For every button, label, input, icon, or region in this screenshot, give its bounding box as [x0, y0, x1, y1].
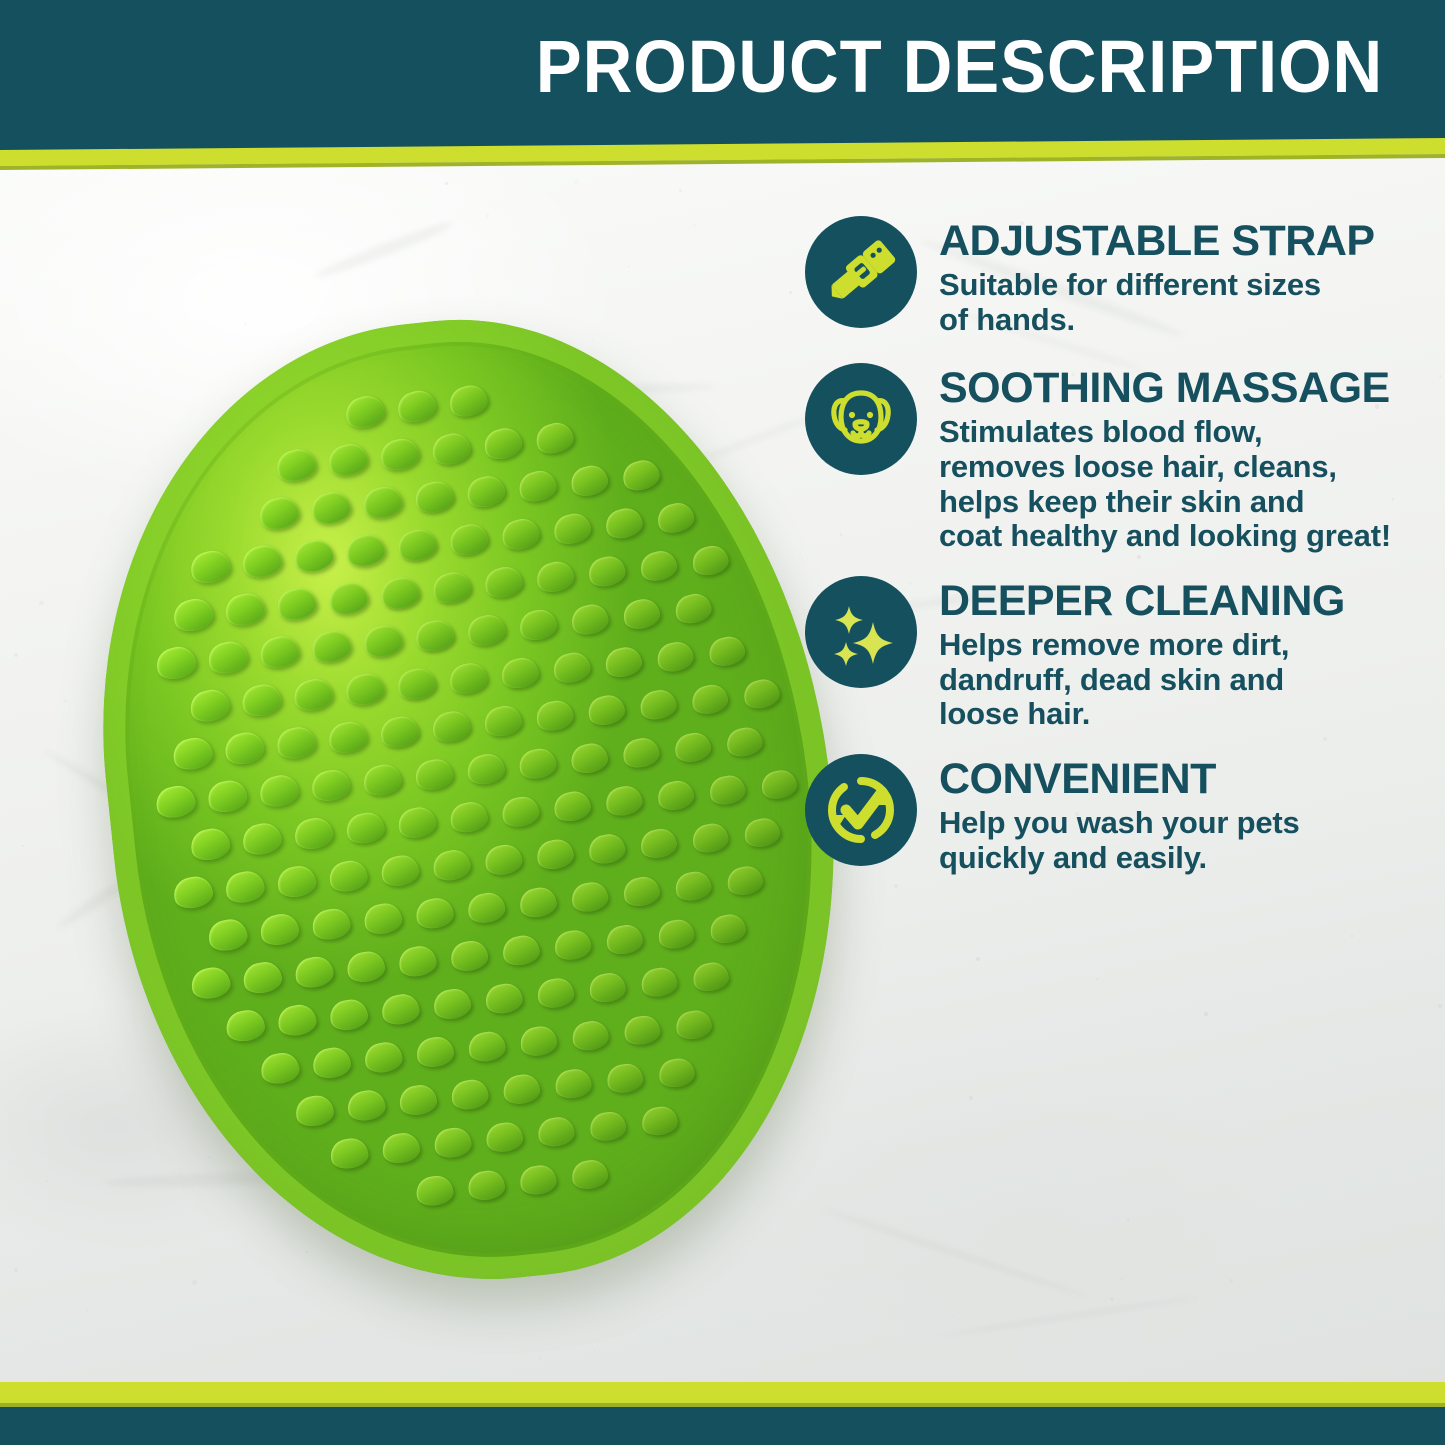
strap-buckle-icon [805, 216, 917, 328]
feature-body: Suitable for different sizes of hands. [939, 268, 1425, 337]
background-speck [486, 214, 489, 217]
feature-body-line: coat healthy and looking great! [939, 519, 1425, 554]
background-speck [1127, 1218, 1130, 1221]
feature-body-line: loose hair. [939, 697, 1425, 732]
background-speck [1351, 935, 1353, 937]
feature-heading: DEEPER CLEANING [939, 580, 1425, 624]
feature-body-line: Helps remove more dirt, [939, 628, 1425, 663]
background-speck [976, 957, 980, 961]
background-speck [1204, 1012, 1208, 1016]
feature-adjustable-strap: ADJUSTABLE STRAP Suitable for different … [805, 216, 1425, 337]
feature-body-line: Stimulates blood flow, [939, 415, 1425, 450]
sparkles-icon [805, 576, 917, 688]
background-speck [1110, 1297, 1114, 1301]
infographic-canvas: PRODUCT DESCRIPTION [0, 0, 1445, 1445]
footer-accent-stripe [0, 1382, 1445, 1404]
check-refresh-icon [805, 754, 917, 866]
background-speck [953, 1316, 955, 1318]
background-speck [789, 291, 792, 294]
feature-body-line: helps keep their skin and [939, 485, 1425, 520]
background-speck [969, 1096, 973, 1100]
feature-heading: CONVENIENT [939, 758, 1425, 802]
feature-body: Help you wash your pets quickly and easi… [939, 806, 1425, 875]
brush-body [62, 285, 878, 1315]
feature-body-line: of hands. [939, 303, 1425, 338]
feature-body-line: Help you wash your pets [939, 806, 1425, 841]
background-speck [1120, 1277, 1124, 1281]
feature-deeper-cleaning: DEEPER CLEANING Helps remove more dirt, … [805, 576, 1425, 732]
background-speck [628, 266, 630, 268]
feature-heading: SOOTHING MASSAGE [939, 367, 1425, 411]
feature-list: ADJUSTABLE STRAP Suitable for different … [805, 216, 1425, 889]
feature-body-line: dandruff, dead skin and [939, 663, 1425, 698]
feature-body: Helps remove more dirt, dandruff, dead s… [939, 628, 1425, 732]
background-speck [693, 224, 696, 227]
background-speck [1032, 1097, 1033, 1098]
background-speck [1439, 375, 1442, 378]
background-speck [679, 189, 682, 192]
feature-body-line: quickly and easily. [939, 841, 1425, 876]
footer-band [0, 1407, 1445, 1445]
feature-body-line: Suitable for different sizes [939, 268, 1425, 303]
background-speck [574, 179, 579, 184]
product-image [0, 300, 860, 1360]
feature-body-line: removes loose hair, cleans, [939, 450, 1425, 485]
background-speck [1133, 1260, 1134, 1261]
feature-heading: ADJUSTABLE STRAP [939, 220, 1425, 264]
background-speck [1096, 978, 1098, 980]
feature-body: Stimulates blood flow, removes loose hai… [939, 415, 1425, 554]
background-speck [445, 182, 448, 185]
background-speck [1229, 1279, 1233, 1283]
dog-face-icon [805, 363, 917, 475]
feature-convenient: CONVENIENT Help you wash your pets quick… [805, 754, 1425, 875]
background-streak [314, 219, 454, 283]
background-streak [938, 1295, 1198, 1338]
page-title: PRODUCT DESCRIPTION [536, 30, 1383, 104]
background-speck [1438, 1004, 1443, 1009]
feature-soothing-massage: SOOTHING MASSAGE Stimulates blood flow, … [805, 363, 1425, 554]
